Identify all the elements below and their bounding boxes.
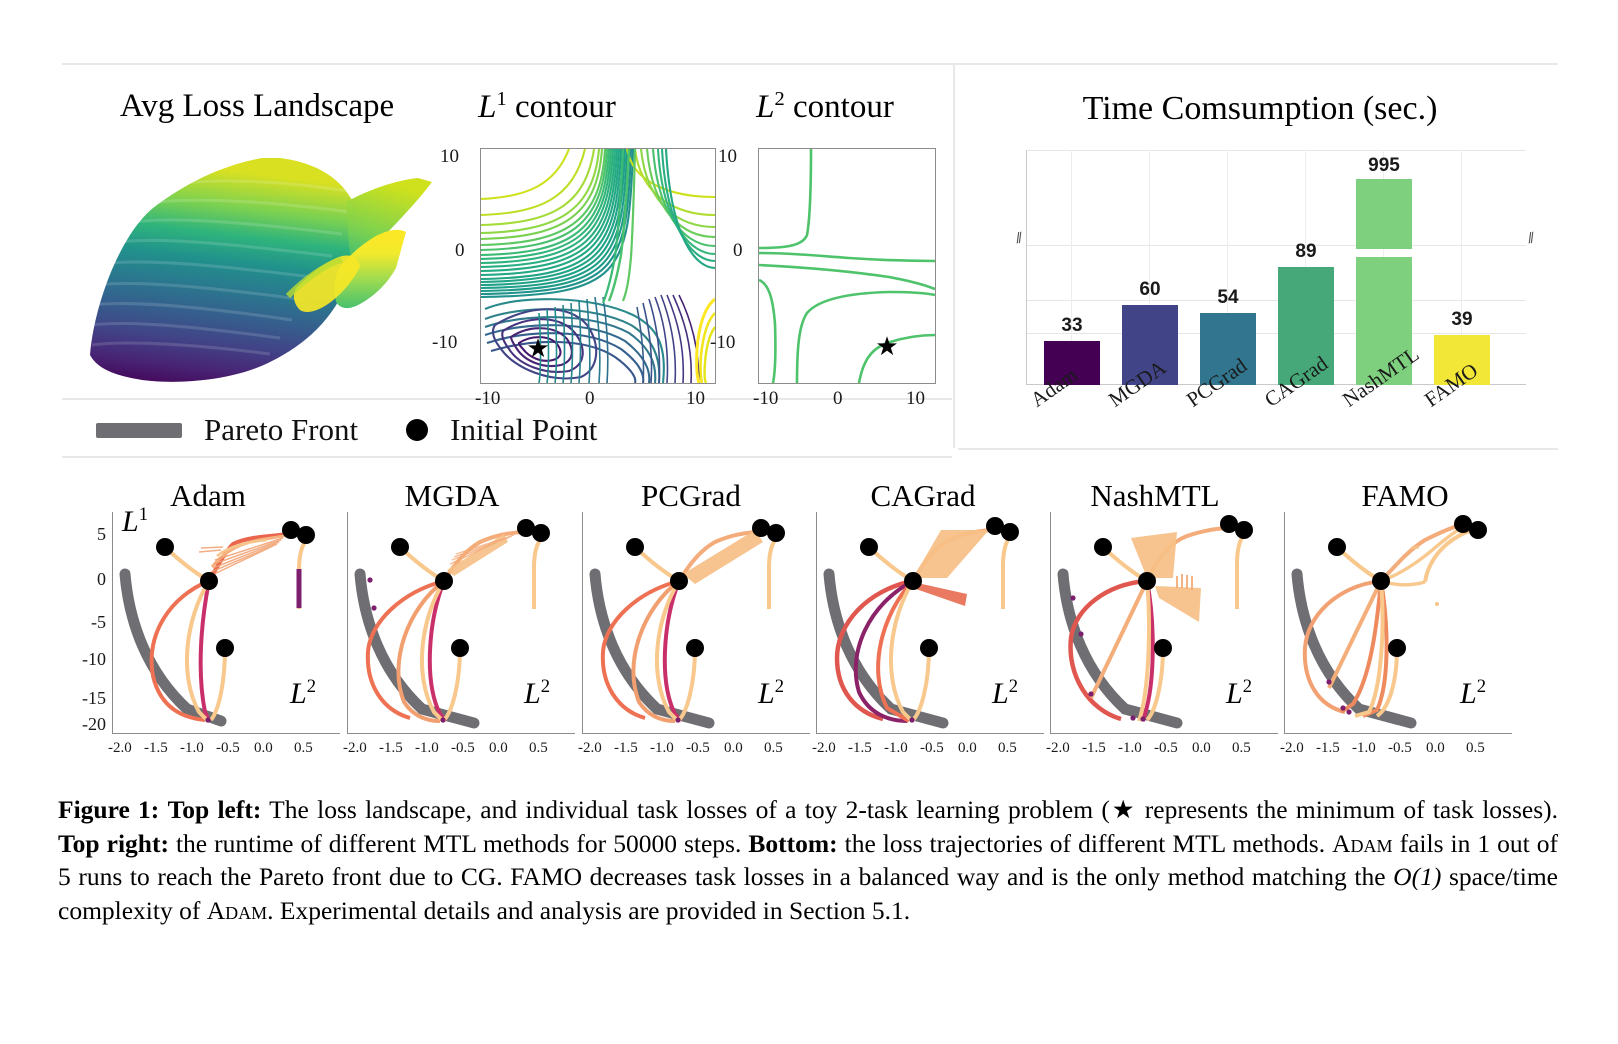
traj-xlabel-l2-famo: L2 bbox=[1460, 676, 1486, 711]
traj-title-famo: FAMO bbox=[1300, 478, 1510, 514]
xtick: -0.5 bbox=[451, 740, 475, 757]
traj-title-mgda: MGDA bbox=[352, 478, 552, 514]
traj-xlabel-l2-adam: L2 bbox=[290, 676, 316, 711]
traj-title-pcgrad: PCGrad bbox=[586, 478, 796, 514]
l2-xtick-0: 0 bbox=[833, 388, 843, 410]
xtick: -1.0 bbox=[650, 740, 674, 757]
traj-ytick-neg20: -20 bbox=[50, 714, 106, 735]
l2-ytick-0: 0 bbox=[733, 240, 743, 262]
xtick: -2.0 bbox=[578, 740, 602, 757]
traj-title-cagrad: CAGrad bbox=[818, 478, 1028, 514]
gridline bbox=[1026, 150, 1526, 151]
xtick: -2.0 bbox=[343, 740, 367, 757]
xtick: -0.5 bbox=[216, 740, 240, 757]
figure-1: Avg Loss Landscape bbox=[0, 0, 1618, 1044]
svg-text:★: ★ bbox=[875, 332, 898, 362]
gridline bbox=[1026, 333, 1526, 334]
traj-ytick-neg5: -5 bbox=[58, 612, 106, 633]
svg-text:★: ★ bbox=[526, 334, 549, 364]
traj-xlabel-l2-mgda: L2 bbox=[524, 676, 550, 711]
pareto-front-swatch bbox=[96, 423, 182, 438]
xtick: -2.0 bbox=[1046, 740, 1070, 757]
bar-value-cagrad: 89 bbox=[1278, 241, 1334, 263]
l1-xtick-10: 10 bbox=[686, 388, 705, 410]
traj-xlabel-l2-pcgrad: L2 bbox=[758, 676, 784, 711]
bar-value-adam: 33 bbox=[1044, 315, 1100, 337]
l1-contour-plot: ★ bbox=[480, 148, 716, 384]
l2-xtick-neg10: -10 bbox=[753, 388, 778, 410]
caption-bold-top-left: Top left: bbox=[168, 795, 262, 824]
legend: Pareto Front Initial Point bbox=[96, 412, 597, 448]
divider-below-legend bbox=[62, 456, 952, 458]
time-consumption-title: Time Comsumption (sec.) bbox=[980, 90, 1540, 128]
xtick: 0.5 bbox=[529, 740, 548, 757]
gridline bbox=[1026, 245, 1526, 246]
xtick: -0.5 bbox=[1388, 740, 1412, 757]
traj-ytick-5: 5 bbox=[58, 524, 106, 545]
xtick: 0.5 bbox=[764, 740, 783, 757]
l1-ytick-0: 0 bbox=[455, 240, 465, 262]
divider-mid-left bbox=[62, 398, 952, 400]
caption-bold-bottom: Bottom: bbox=[748, 829, 837, 858]
xtick: -2.0 bbox=[108, 740, 132, 757]
xtick: -1.5 bbox=[379, 740, 403, 757]
time-consumption-chart: 33 60 54 89 995 39 bbox=[1026, 150, 1526, 385]
figure-caption: Figure 1: Top left: The loss landscape, … bbox=[58, 793, 1558, 927]
traj-ytick-neg10: -10 bbox=[50, 649, 106, 670]
xtick: -1.0 bbox=[1118, 740, 1142, 757]
xtick: 0.5 bbox=[1232, 740, 1251, 757]
bar-y-axis bbox=[1026, 150, 1027, 385]
xtick: 0.5 bbox=[1466, 740, 1485, 757]
caption-bold-top-right: Top right: bbox=[58, 829, 169, 858]
axis-break-right: // bbox=[1527, 230, 1534, 247]
bar-value-nashmtl: 995 bbox=[1356, 155, 1412, 177]
xtick: 0.5 bbox=[294, 740, 313, 757]
xtick: -1.5 bbox=[1316, 740, 1340, 757]
caption-text-1: The loss landscape, and individual task … bbox=[261, 795, 1558, 824]
xtick: -1.0 bbox=[415, 740, 439, 757]
traj-ytick-neg15: -15 bbox=[50, 688, 106, 709]
axis-break-left: // bbox=[1015, 230, 1022, 247]
bar-value-mgda: 60 bbox=[1122, 279, 1178, 301]
divider-mid-right bbox=[958, 448, 1558, 450]
l2-ytick-10: 10 bbox=[718, 146, 737, 168]
xtick: -2.0 bbox=[812, 740, 836, 757]
caption-text-2: the runtime of different MTL methods for… bbox=[169, 829, 748, 858]
l2-xtick-10: 10 bbox=[906, 388, 925, 410]
xtick: -0.5 bbox=[686, 740, 710, 757]
traj-title-nashmtl: NashMTL bbox=[1040, 478, 1270, 514]
xtick: -1.5 bbox=[614, 740, 638, 757]
l1-contour-title: L1 contour bbox=[452, 88, 642, 126]
initial-point-label: Initial Point bbox=[450, 412, 597, 448]
l1-ytick-10: 10 bbox=[440, 146, 459, 168]
l2-contour-plot: ★ bbox=[758, 148, 936, 384]
traj-xlabel-l2-nashmtl: L2 bbox=[1226, 676, 1252, 711]
bar-nashmtl-upper[interactable] bbox=[1356, 179, 1412, 249]
initial-point-swatch bbox=[406, 419, 428, 441]
xtick: 0.5 bbox=[998, 740, 1017, 757]
pareto-front-label: Pareto Front bbox=[204, 412, 358, 448]
xtick: -1.5 bbox=[848, 740, 872, 757]
xtick: 0.0 bbox=[254, 740, 273, 757]
bar-value-famo: 39 bbox=[1434, 309, 1490, 331]
l1-contour-title-text: L1 contour bbox=[478, 89, 616, 125]
l2-contour-title: L2 contour bbox=[730, 88, 920, 126]
xtick: -1.5 bbox=[144, 740, 168, 757]
xtick: 0.0 bbox=[489, 740, 508, 757]
xtick: -2.0 bbox=[1280, 740, 1304, 757]
l1-ytick-neg10: -10 bbox=[432, 332, 457, 354]
l2-contour-title-text: L2 contour bbox=[756, 89, 894, 125]
caption-text-3: the loss trajectories of different MTL m… bbox=[838, 829, 1333, 858]
caption-figure-label: Figure 1: bbox=[58, 795, 159, 824]
caption-big-o: O(1) bbox=[1393, 862, 1441, 891]
xtick: 0.0 bbox=[1192, 740, 1211, 757]
l2-ytick-neg10: -10 bbox=[710, 332, 735, 354]
caption-text-6: . Experimental details and analysis are … bbox=[267, 896, 910, 925]
xtick: 0.0 bbox=[724, 740, 743, 757]
xtick: -1.0 bbox=[180, 740, 204, 757]
xtick: -1.0 bbox=[884, 740, 908, 757]
traj-ylabel-l1: L1 bbox=[122, 504, 148, 539]
xtick: -0.5 bbox=[920, 740, 944, 757]
traj-xlabel-l2-cagrad: L2 bbox=[992, 676, 1018, 711]
xtick: -0.5 bbox=[1154, 740, 1178, 757]
loss-landscape-surface bbox=[80, 140, 440, 390]
l1-xtick-0: 0 bbox=[585, 388, 595, 410]
divider-vertical bbox=[953, 63, 955, 448]
xtick: -1.0 bbox=[1352, 740, 1376, 757]
xtick: 0.0 bbox=[958, 740, 977, 757]
divider-top bbox=[62, 63, 1558, 65]
bar-value-pcgrad: 54 bbox=[1200, 287, 1256, 309]
xtick: 0.0 bbox=[1426, 740, 1445, 757]
traj-ytick-0: 0 bbox=[58, 569, 106, 590]
xtick: -1.5 bbox=[1082, 740, 1106, 757]
caption-smallcaps-adam-2: Adam bbox=[207, 896, 267, 925]
caption-smallcaps-adam-1: Adam bbox=[1332, 829, 1392, 858]
l1-xtick-neg10: -10 bbox=[475, 388, 500, 410]
gridline bbox=[1026, 300, 1526, 301]
avg-loss-landscape-title: Avg Loss Landscape bbox=[62, 88, 452, 125]
